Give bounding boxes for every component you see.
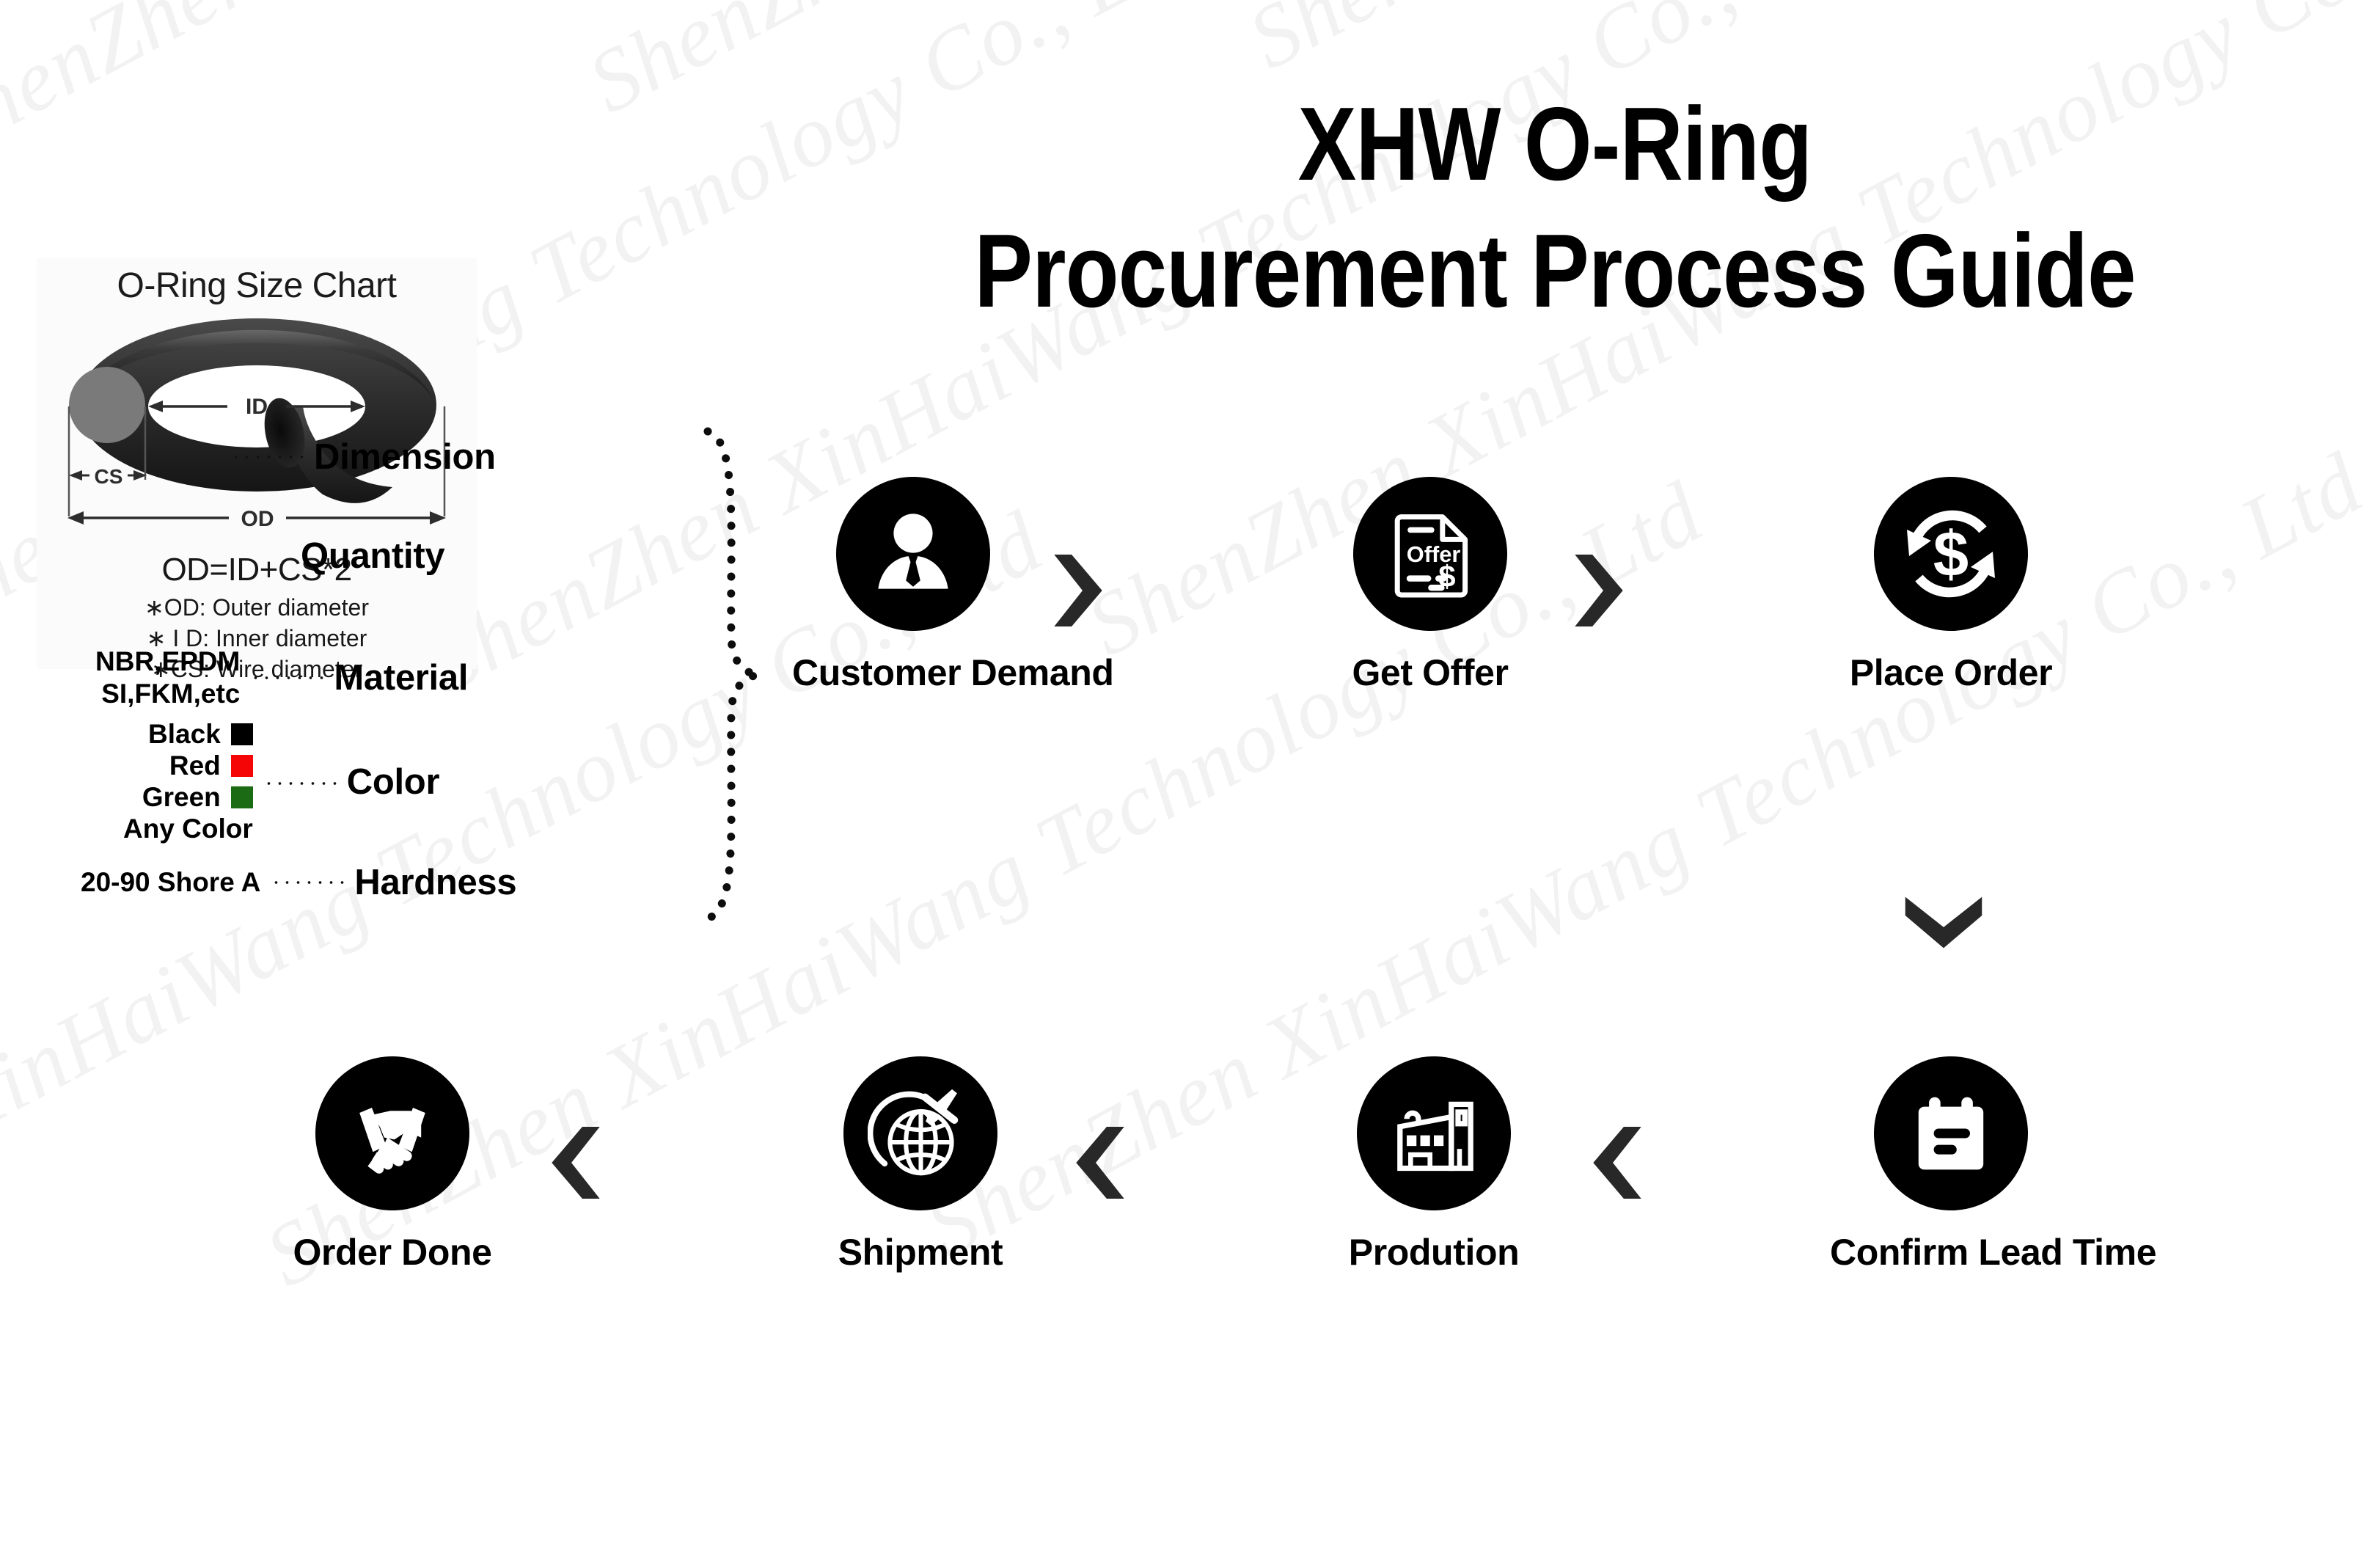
color-swatch-black — [231, 723, 253, 745]
process-step-prodution[interactable]: Prodution — [1313, 1056, 1555, 1274]
leader-dots — [263, 781, 337, 786]
process-step-confirm-lead-time[interactable]: Confirm Lead Time — [1830, 1056, 2072, 1274]
chevron-right-icon — [1045, 550, 1111, 631]
chevron-right-icon — [1566, 550, 1632, 631]
color-swatch-red — [231, 755, 253, 777]
spec-row-hardness: 20-90 Shore A Hardness — [81, 862, 516, 903]
dollar-refresh-icon: $ — [1896, 499, 2006, 609]
order-done-disc[interactable] — [315, 1056, 469, 1210]
color-option-red: Red — [169, 750, 253, 781]
spec-label-dimension: Dimension — [314, 436, 496, 478]
color-option-label: Green — [142, 782, 221, 812]
globe-airplane-icon — [868, 1081, 974, 1187]
watermark-text: ShenZhen XinHaiWang Technology Co., Ltd — [1232, 0, 2380, 89]
step-label-customer-demand: Customer Demand — [792, 651, 1034, 694]
calendar-note-icon — [1903, 1086, 1999, 1181]
spec-row-quantity: Quantity — [301, 536, 444, 577]
process-step-order-done[interactable]: Order Done — [271, 1056, 513, 1274]
customer-demand-disc[interactable] — [836, 477, 990, 631]
prodution-disc[interactable] — [1357, 1056, 1511, 1210]
chevron-down-icon — [1900, 888, 1988, 957]
dollar-sign-icon: $ — [1933, 519, 1969, 590]
shipment-disc[interactable] — [843, 1056, 997, 1210]
color-swatch-green — [231, 786, 253, 808]
color-option-label: Black — [148, 719, 221, 749]
step-label-shipment: Shipment — [799, 1231, 1041, 1274]
color-option-label: Red — [169, 750, 221, 781]
spec-value-hardness: 20-90 Shore A — [81, 866, 260, 899]
color-option-green: Green — [142, 782, 253, 812]
process-flow: Customer Demand Offer $ Get Offer — [792, 477, 2347, 1504]
chevron-left-icon — [1067, 1122, 1133, 1203]
place-order-disc[interactable]: $ — [1874, 477, 2028, 631]
spec-label-hardness: Hardness — [354, 862, 516, 903]
process-step-get-offer[interactable]: Offer $ Get Offer — [1309, 477, 1551, 694]
step-label-place-order: Place Order — [1830, 651, 2072, 694]
confirm-lead-time-disc[interactable] — [1874, 1056, 2028, 1210]
process-step-shipment[interactable]: Shipment — [799, 1056, 1041, 1274]
chevron-left-icon — [1584, 1122, 1650, 1203]
person-tie-icon — [862, 503, 964, 605]
page-title: XHW O-Ring Procurement Process Guide — [799, 81, 2310, 335]
infographic-page: ShenZhen XinHaiWang Technology Co., Ltd … — [0, 0, 2380, 1542]
spec-label-color: Color — [347, 761, 439, 803]
spec-list: Dimension Quantity NBR,EPDM SI,FKM,etc M… — [0, 411, 770, 998]
chevron-left-icon — [543, 1122, 609, 1203]
process-step-place-order[interactable]: $ Place Order — [1830, 477, 2072, 694]
title-line-1: XHW O-Ring — [920, 81, 2189, 208]
get-offer-disc[interactable]: Offer $ — [1353, 477, 1507, 631]
dollar-sign-icon: $ — [1438, 559, 1455, 593]
title-line-2: Procurement Process Guide — [920, 208, 2189, 335]
color-option-any: Any Color — [123, 814, 253, 844]
spec-label-material: Material — [334, 657, 468, 698]
color-options-list: Black Red Green Any Color — [123, 719, 253, 845]
step-label-get-offer: Get Offer — [1309, 651, 1551, 694]
dotted-brace-icon — [700, 418, 766, 932]
spec-label-quantity: Quantity — [301, 536, 444, 577]
spec-value-material: NBR,EPDM SI,FKM,etc — [95, 646, 240, 709]
process-step-customer-demand[interactable]: Customer Demand — [792, 477, 1034, 694]
step-label-confirm-lead-time: Confirm Lead Time — [1830, 1231, 2072, 1274]
leader-dots — [230, 455, 304, 459]
offer-document-icon: Offer $ — [1379, 503, 1482, 605]
step-label-prodution: Prodution — [1313, 1231, 1555, 1274]
handshake-icon — [341, 1082, 444, 1185]
spec-row-color: Black Red Green Any Color Color — [123, 719, 439, 845]
leader-dots — [271, 880, 344, 885]
step-label-order-done: Order Done — [271, 1231, 513, 1274]
spec-row-dimension: Dimension — [220, 436, 496, 478]
color-option-black: Black — [148, 719, 253, 749]
spec-row-material: NBR,EPDM SI,FKM,etc Material — [95, 646, 468, 709]
color-option-label: Any Color — [123, 814, 253, 844]
leader-dots — [250, 676, 323, 680]
factory-icon — [1385, 1085, 1482, 1182]
